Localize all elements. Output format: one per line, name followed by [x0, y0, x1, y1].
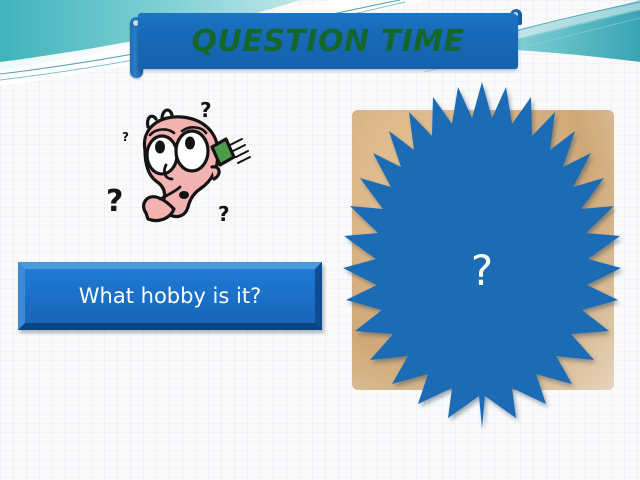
svg-text:?: ?	[200, 98, 212, 122]
page-title: QUESTION TIME	[138, 13, 518, 69]
question-text-box[interactable]: What hobby is it?	[18, 262, 322, 330]
starburst-shape[interactable]	[326, 82, 638, 458]
thinking-man-icon: ? ? ? ?	[100, 95, 260, 235]
title-banner: QUESTION TIME	[124, 8, 524, 80]
svg-text:?: ?	[218, 202, 230, 226]
svg-text:?: ?	[122, 130, 129, 144]
slide-canvas: QUESTION TIME	[0, 0, 640, 480]
svg-text:?: ?	[106, 184, 123, 219]
question-text: What hobby is it?	[25, 269, 315, 323]
